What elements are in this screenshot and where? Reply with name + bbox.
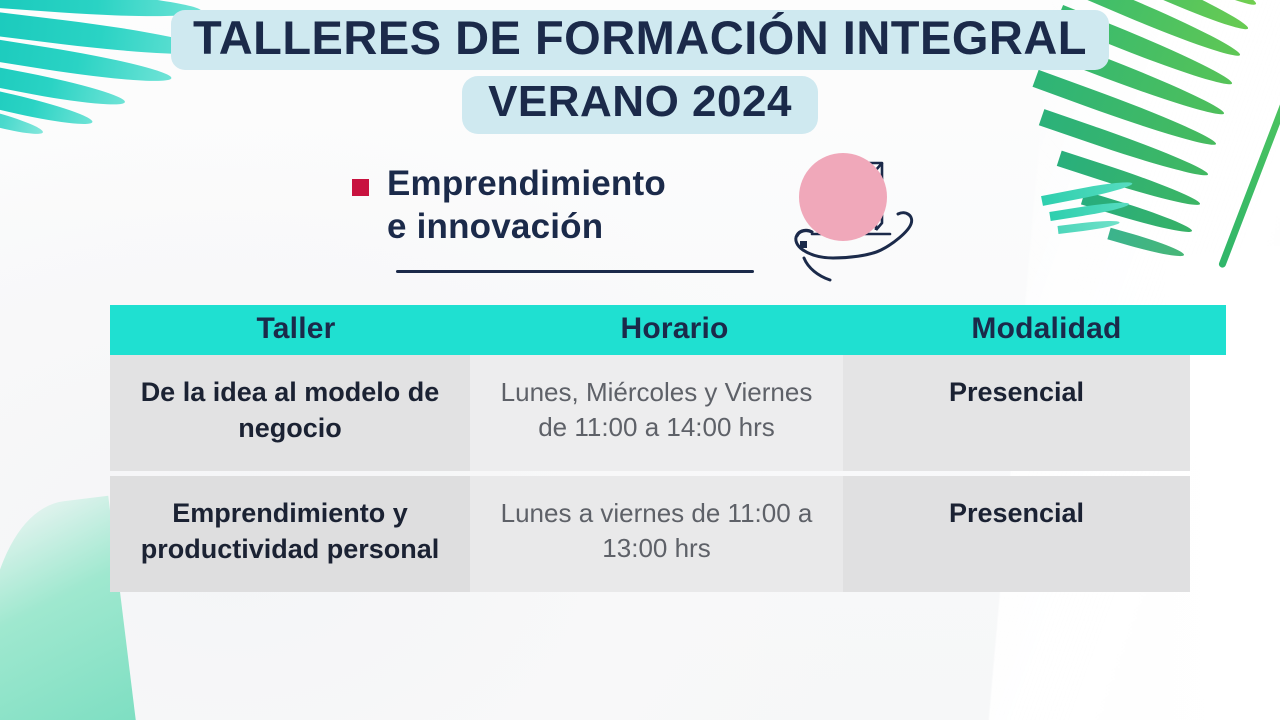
section-underline: [396, 270, 754, 273]
section-title-line-1: Emprendimiento: [387, 163, 666, 206]
section-title-text: Emprendimiento e innovación: [387, 163, 666, 248]
table-row: De la idea al modelo de negocio Lunes, M…: [110, 355, 1190, 471]
table-row: Emprendimiento y productividad personal …: [110, 476, 1190, 592]
cell-modalidad: Presencial: [843, 476, 1190, 592]
cell-horario: Lunes a viernes de 11:00 a 13:00 hrs: [470, 476, 843, 592]
cell-horario: Lunes, Miércoles y Viernes de 11:00 a 14…: [470, 355, 843, 471]
section-title-line-2: e innovación: [387, 206, 666, 249]
poster-title: TALLERES DE FORMACIÓN INTEGRAL VERANO 20…: [0, 10, 1280, 134]
icon-circle-decor: [799, 153, 887, 241]
column-header-taller: Taller: [110, 305, 482, 355]
hand-holding-bar-chart-icon: [786, 148, 936, 290]
table-header-row: Taller Horario Modalidad: [110, 305, 1190, 355]
palm-tip-teal-icon: [1042, 196, 1162, 240]
page-title-line-2: VERANO 2024: [462, 76, 818, 134]
workshops-table: Taller Horario Modalidad De la idea al m…: [110, 305, 1190, 592]
square-bullet-icon: [352, 179, 369, 196]
cell-modalidad: Presencial: [843, 355, 1190, 471]
poster-canvas: TALLERES DE FORMACIÓN INTEGRAL VERANO 20…: [0, 0, 1280, 720]
column-header-modalidad: Modalidad: [867, 305, 1226, 355]
cell-taller: Emprendimiento y productividad personal: [110, 476, 470, 592]
page-title-line-1: TALLERES DE FORMACIÓN INTEGRAL: [171, 10, 1109, 70]
column-header-horario: Horario: [482, 305, 867, 355]
cell-taller: De la idea al modelo de negocio: [110, 355, 470, 471]
